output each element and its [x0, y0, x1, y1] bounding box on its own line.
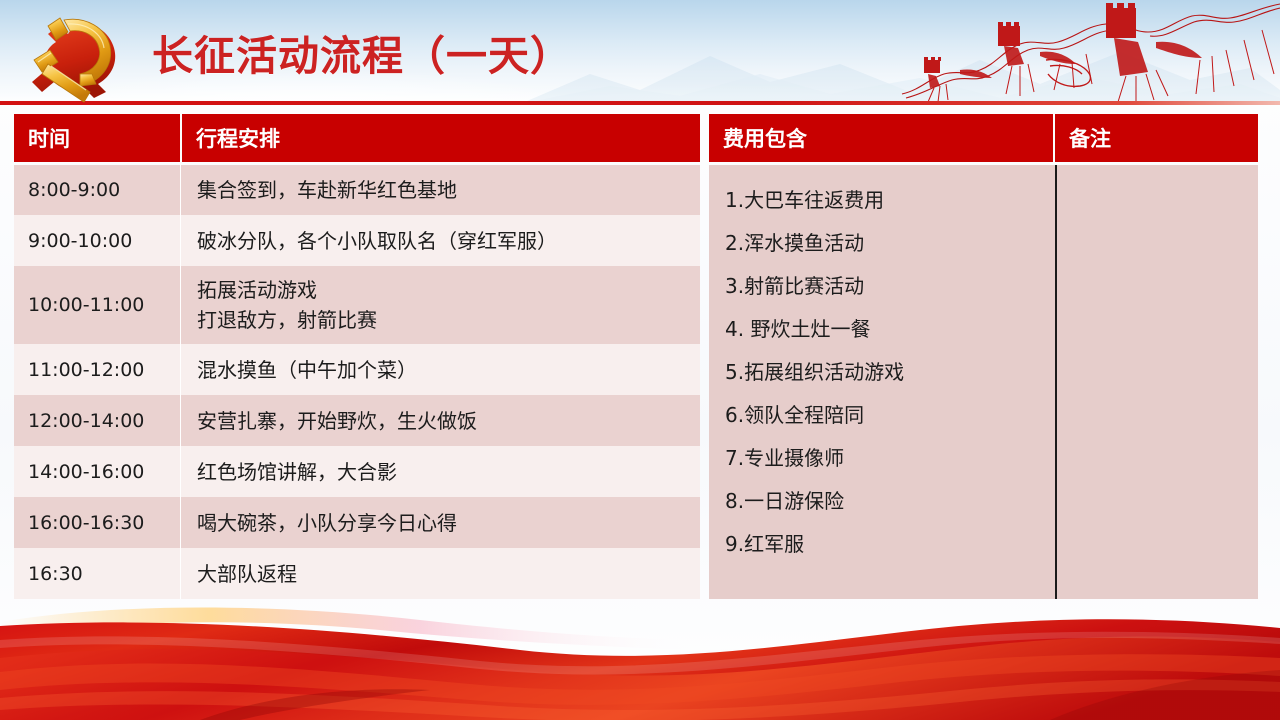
row-itinerary-line: 喝大碗茶，小队分享今日心得 — [197, 508, 690, 538]
row-itinerary: 拓展活动游戏 打退敌方，射箭比赛 — [180, 266, 700, 344]
table-row[interactable]: 10:00-11:00 拓展活动游戏 打退敌方，射箭比赛 — [14, 266, 700, 344]
column-gap — [700, 165, 709, 599]
table-header-fee: 费用包含 — [709, 114, 1053, 162]
note-cell[interactable] — [1055, 165, 1258, 599]
row-itinerary-line: 集合签到，车赴新华红色基地 — [197, 175, 690, 205]
table-header-itinerary: 行程安排 — [182, 114, 700, 162]
table-row[interactable]: 11:00-12:00 混水摸鱼（中午加个菜） — [14, 344, 700, 395]
fee-item: 9.红军服 — [725, 523, 1045, 566]
great-wall-line-art-icon — [900, 0, 1280, 104]
table-row[interactable]: 14:00-16:00 红色场馆讲解，大合影 — [14, 446, 700, 497]
slide-canvas: 长征活动流程（一天） 时间 行程安排 费用包含 备注 8:00-9:00 集合签… — [0, 0, 1280, 720]
red-silk-ribbon-icon — [0, 580, 1280, 720]
fee-item: 2.浑水摸鱼活动 — [725, 222, 1045, 265]
fee-item: 5.拓展组织活动游戏 — [725, 351, 1045, 394]
row-itinerary: 集合签到，车赴新华红色基地 — [180, 165, 700, 215]
row-itinerary: 混水摸鱼（中午加个菜） — [180, 344, 700, 395]
table-header-note: 备注 — [1055, 114, 1258, 162]
row-itinerary-line: 安营扎寨，开始野炊，生火做饭 — [197, 406, 690, 436]
row-time: 14:00-16:00 — [14, 446, 180, 497]
schedule-rows-column: 8:00-9:00 集合签到，车赴新华红色基地 9:00-10:00 破冰分队，… — [14, 165, 700, 599]
table-row[interactable]: 8:00-9:00 集合签到，车赴新华红色基地 — [14, 165, 700, 215]
row-time: 9:00-10:00 — [14, 215, 180, 266]
table-row[interactable]: 12:00-14:00 安营扎寨，开始野炊，生火做饭 — [14, 395, 700, 446]
row-time: 10:00-11:00 — [14, 266, 180, 344]
row-itinerary-line: 拓展活动游戏 — [197, 275, 690, 305]
table-body: 8:00-9:00 集合签到，车赴新华红色基地 9:00-10:00 破冰分队，… — [14, 165, 1258, 599]
row-itinerary-line: 混水摸鱼（中午加个菜） — [197, 355, 690, 385]
table-header-time: 时间 — [14, 114, 180, 162]
row-itinerary: 安营扎寨，开始野炊，生火做饭 — [180, 395, 700, 446]
fee-item: 4. 野炊土灶一餐 — [725, 308, 1045, 351]
fee-item: 3.射箭比赛活动 — [725, 265, 1045, 308]
fee-item: 7.专业摄像师 — [725, 437, 1045, 480]
row-itinerary-line: 红色场馆讲解，大合影 — [197, 457, 690, 487]
header-red-rule — [0, 101, 1280, 105]
fee-item: 1.大巴车往返费用 — [725, 179, 1045, 222]
row-itinerary-line: 打退敌方，射箭比赛 — [197, 305, 690, 335]
table-header-row: 时间 行程安排 费用包含 备注 — [14, 114, 1258, 162]
cpc-hammer-sickle-emblem-icon — [18, 14, 140, 104]
fee-item: 6.领队全程陪同 — [725, 394, 1045, 437]
row-itinerary: 喝大碗茶，小队分享今日心得 — [180, 497, 700, 548]
row-time: 16:00-16:30 — [14, 497, 180, 548]
row-itinerary-line: 破冰分队，各个小队取队名（穿红军服） — [197, 226, 690, 256]
table-row[interactable]: 9:00-10:00 破冰分队，各个小队取队名（穿红军服） — [14, 215, 700, 266]
table-row[interactable]: 16:00-16:30 喝大碗茶，小队分享今日心得 — [14, 497, 700, 548]
row-time: 8:00-9:00 — [14, 165, 180, 215]
row-itinerary: 红色场馆讲解，大合影 — [180, 446, 700, 497]
schedule-table: 时间 行程安排 费用包含 备注 8:00-9:00 集合签到，车赴新华红色基地 … — [14, 114, 1258, 599]
page-title: 长征活动流程（一天） — [152, 26, 572, 86]
row-itinerary: 破冰分队，各个小队取队名（穿红军服） — [180, 215, 700, 266]
row-time: 11:00-12:00 — [14, 344, 180, 395]
fee-item: 8.一日游保险 — [725, 480, 1045, 523]
fee-included-cell[interactable]: 1.大巴车往返费用 2.浑水摸鱼活动 3.射箭比赛活动 4. 野炊土灶一餐 5.… — [709, 165, 1055, 599]
row-time: 12:00-14:00 — [14, 395, 180, 446]
